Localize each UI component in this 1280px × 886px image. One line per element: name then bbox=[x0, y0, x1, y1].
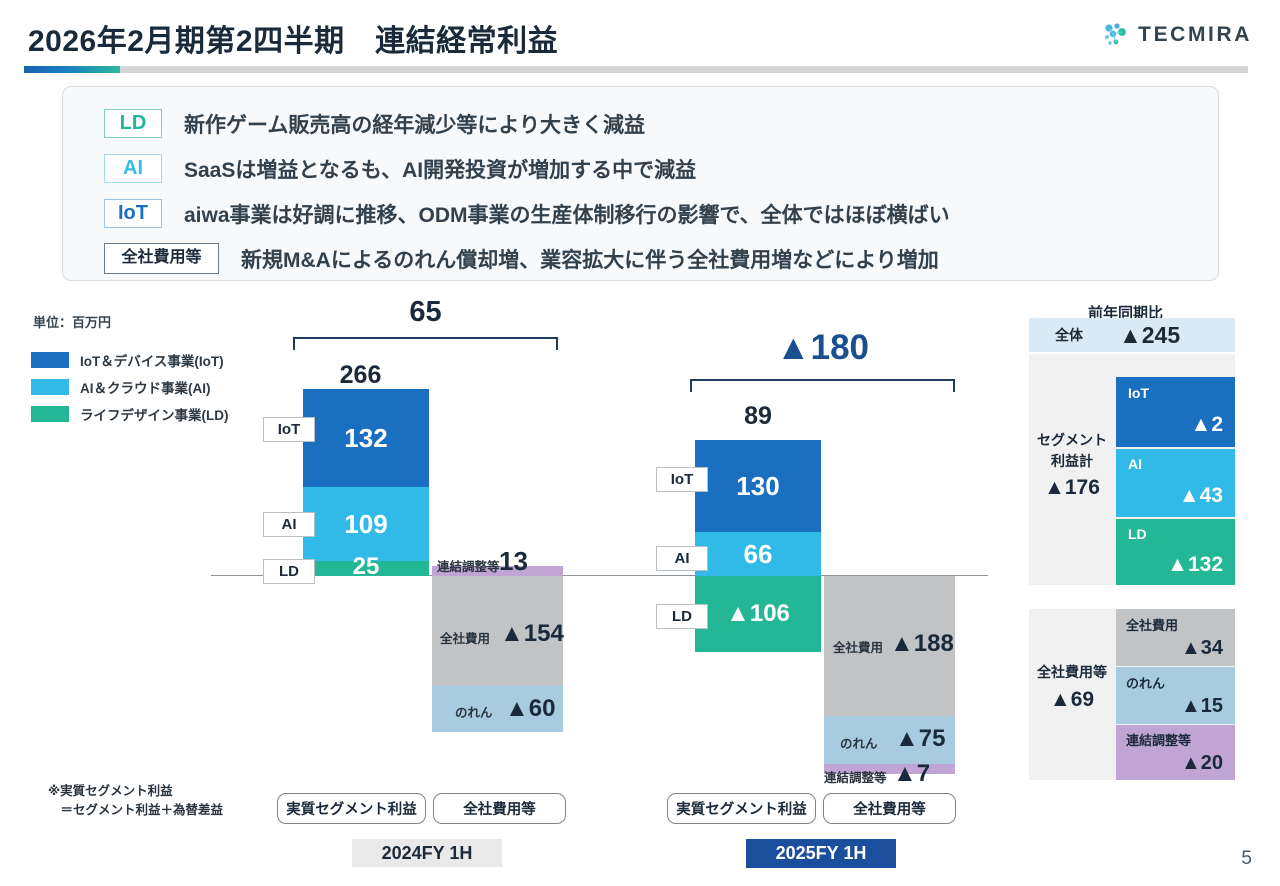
yoy-segment-name: セグメント 利益計 ▲176 bbox=[1029, 430, 1115, 504]
callout-text-ld: 新作ゲーム販売高の経年減少等により大きく減益 bbox=[184, 109, 645, 139]
pill-segment-2024[interactable]: 実質セグメント利益 bbox=[277, 793, 426, 824]
legend-swatch-iot bbox=[31, 352, 69, 368]
col1-bar-ld-value: 25 bbox=[303, 553, 429, 581]
callout-text-iot: aiwa事業は好調に推移、ODM事業の生産体制移行の影響で、全体ではほぼ横ばい bbox=[184, 199, 950, 229]
yoy-segment-ld: LD ▲132 bbox=[1116, 519, 1235, 585]
col1-bracket bbox=[293, 337, 558, 350]
legend-item-ai: AI＆クラウド事業(AI) bbox=[31, 373, 229, 400]
col2-bar-ai: 66 bbox=[695, 532, 821, 576]
page-title: 2026年2月期第2四半期 連結経常利益 bbox=[28, 16, 558, 60]
col2-tag-iot: IoT bbox=[656, 467, 708, 492]
footnote: ※実質セグメント利益 ＝セグメント利益＋為替差益 bbox=[48, 782, 223, 821]
yoy-segment-name-line1: セグメント bbox=[1029, 430, 1115, 451]
col1-goodwill-value: ▲60 bbox=[505, 695, 555, 723]
yoy-corporate-adjust-name: 連結調整等 bbox=[1126, 730, 1191, 749]
col1-bar-ai-value: 109 bbox=[344, 509, 387, 540]
legend-swatch-ai bbox=[31, 379, 69, 395]
col1-tag-iot: IoT bbox=[263, 417, 315, 442]
unit-label: 単位：百万円 bbox=[33, 312, 111, 331]
col2-grand-total: ▲180 bbox=[690, 328, 955, 368]
yoy-segment-iot-name: IoT bbox=[1128, 385, 1149, 401]
yoy-corporate-goodwill-name: のれん bbox=[1126, 673, 1165, 692]
col2-bracket bbox=[690, 379, 955, 392]
yoy-corporate-expense-name: 全社費用 bbox=[1126, 615, 1178, 634]
col1-grand-total: 65 bbox=[293, 296, 558, 329]
yoy-segment-value: ▲176 bbox=[1029, 472, 1115, 504]
col2-bar-iot: 130 bbox=[695, 440, 821, 532]
col1-segment-total: 266 bbox=[293, 361, 428, 390]
pill-corporate-2024[interactable]: 全社費用等 bbox=[433, 793, 566, 824]
yoy-corporate-value: ▲69 bbox=[1029, 684, 1115, 717]
brand-logo: TECMIRA bbox=[1103, 22, 1252, 48]
badge-corporate: 全社費用等 bbox=[104, 243, 219, 273]
pill-corporate-2025[interactable]: 全社費用等 bbox=[823, 793, 956, 824]
molecule-nodes-icon bbox=[1103, 22, 1129, 48]
callout-text-corporate: 新規M&Aによるのれん償却増、業容拡大に伴う全社費用増などにより増加 bbox=[241, 244, 939, 274]
yoy-corporate-name: 全社費用等 bbox=[1029, 662, 1115, 684]
year-tag-2025[interactable]: 2025FY 1H bbox=[746, 839, 896, 868]
col2-tag-ai: AI bbox=[656, 546, 708, 571]
legend-label-iot: IoT＆デバイス事業(IoT) bbox=[80, 350, 224, 370]
chart-legend: IoT＆デバイス事業(IoT) AI＆クラウド事業(AI) ライフデザイン事業(… bbox=[31, 346, 229, 427]
callout-row-iot: IoT aiwa事業は好調に推移、ODM事業の生産体制移行の影響で、全体ではほぼ… bbox=[63, 191, 1218, 236]
yoy-corporate-label: 全社費用等 ▲69 bbox=[1029, 662, 1115, 716]
col2-bar-iot-value: 130 bbox=[736, 471, 779, 502]
legend-item-ld: ライフデザイン事業(LD) bbox=[31, 400, 229, 427]
col2-corporate-name: 全社費用 bbox=[833, 637, 883, 656]
col1-corporate-name: 全社費用 bbox=[440, 628, 490, 647]
col1-bar-iot: 132 bbox=[303, 389, 429, 487]
col1-bar-iot-value: 132 bbox=[344, 423, 387, 454]
col2-bar-ai-value: 66 bbox=[744, 539, 773, 570]
col1-tag-ld: LD bbox=[263, 559, 315, 584]
yoy-segment-iot-value: ▲2 bbox=[1191, 413, 1223, 437]
col2-segment-total: 89 bbox=[690, 402, 826, 431]
col2-adjust-value: ▲7 bbox=[893, 760, 930, 788]
col2-bar-ld-value: ▲106 bbox=[726, 600, 790, 628]
col2-bar-ld: ▲106 bbox=[695, 576, 821, 652]
col1-bar-ai: 109 bbox=[303, 487, 429, 561]
page-number: 5 bbox=[1241, 848, 1252, 870]
legend-item-iot: IoT＆デバイス事業(IoT) bbox=[31, 346, 229, 373]
legend-label-ai: AI＆クラウド事業(AI) bbox=[80, 377, 211, 397]
summary-callout: LD 新作ゲーム販売高の経年減少等により大きく減益 AI SaaSは増益となるも… bbox=[62, 86, 1219, 281]
pill-segment-2025[interactable]: 実質セグメント利益 bbox=[667, 793, 816, 824]
yoy-overall-value: ▲245 bbox=[1119, 322, 1180, 349]
col1-tag-ai: AI bbox=[263, 512, 315, 537]
yoy-segment-ld-name: LD bbox=[1128, 526, 1147, 542]
col1-goodwill-name: のれん bbox=[455, 702, 493, 721]
yoy-segment-ai: AI ▲43 bbox=[1116, 449, 1235, 517]
yoy-segment-iot: IoT ▲2 bbox=[1116, 377, 1235, 447]
yoy-overall-row: 全体 ▲245 bbox=[1029, 318, 1235, 352]
col1-adjust-value: 13 bbox=[499, 546, 528, 577]
col1-corporate-value: ▲154 bbox=[500, 620, 564, 648]
legend-label-ld: ライフデザイン事業(LD) bbox=[80, 404, 229, 424]
yoy-corporate-adjust-value: ▲20 bbox=[1181, 752, 1223, 775]
title-rule bbox=[24, 66, 1248, 73]
col2-goodwill-name: のれん bbox=[840, 733, 878, 752]
badge-iot: IoT bbox=[104, 199, 162, 228]
col1-adjust-name: 連結調整等 bbox=[437, 556, 500, 575]
badge-ai: AI bbox=[104, 154, 162, 183]
col2-goodwill-value: ▲75 bbox=[895, 725, 945, 753]
legend-swatch-ld bbox=[31, 406, 69, 422]
yoy-corporate-adjust: 連結調整等 ▲20 bbox=[1116, 725, 1235, 780]
year-tag-2024[interactable]: 2024FY 1H bbox=[352, 839, 502, 867]
col2-adjust-name: 連結調整等 bbox=[824, 767, 887, 786]
yoy-segment-ld-value: ▲132 bbox=[1167, 553, 1223, 577]
yoy-segment-name-line2: 利益計 bbox=[1029, 451, 1115, 472]
callout-row-ai: AI SaaSは増益となるも、AI開発投資が増加する中で減益 bbox=[63, 146, 1218, 191]
callout-row-ld: LD 新作ゲーム販売高の経年減少等により大きく減益 bbox=[63, 101, 1218, 146]
col2-tag-ld: LD bbox=[656, 604, 708, 629]
badge-ld: LD bbox=[104, 109, 162, 138]
yoy-corporate-expense-value: ▲34 bbox=[1181, 637, 1223, 660]
yoy-corporate-goodwill: のれん ▲15 bbox=[1116, 667, 1235, 724]
yoy-corporate-goodwill-value: ▲15 bbox=[1181, 695, 1223, 718]
callout-text-ai: SaaSは増益となるも、AI開発投資が増加する中で減益 bbox=[184, 154, 696, 184]
logo-text: TECMIRA bbox=[1138, 23, 1252, 47]
yoy-segment-ai-name: AI bbox=[1128, 456, 1142, 472]
yoy-corporate-expense: 全社費用 ▲34 bbox=[1116, 609, 1235, 666]
callout-row-corporate: 全社費用等 新規M&Aによるのれん償却増、業容拡大に伴う全社費用増などにより増加 bbox=[63, 236, 1218, 281]
title-rule-accent bbox=[24, 66, 120, 73]
slide-root: 2026年2月期第2四半期 連結経常利益 TECMIRA LD 新作ゲーム販売高… bbox=[0, 0, 1280, 886]
col2-corporate-value: ▲188 bbox=[890, 630, 954, 658]
yoy-overall-name: 全体 bbox=[1029, 325, 1109, 345]
yoy-segment-ai-value: ▲43 bbox=[1179, 484, 1223, 508]
